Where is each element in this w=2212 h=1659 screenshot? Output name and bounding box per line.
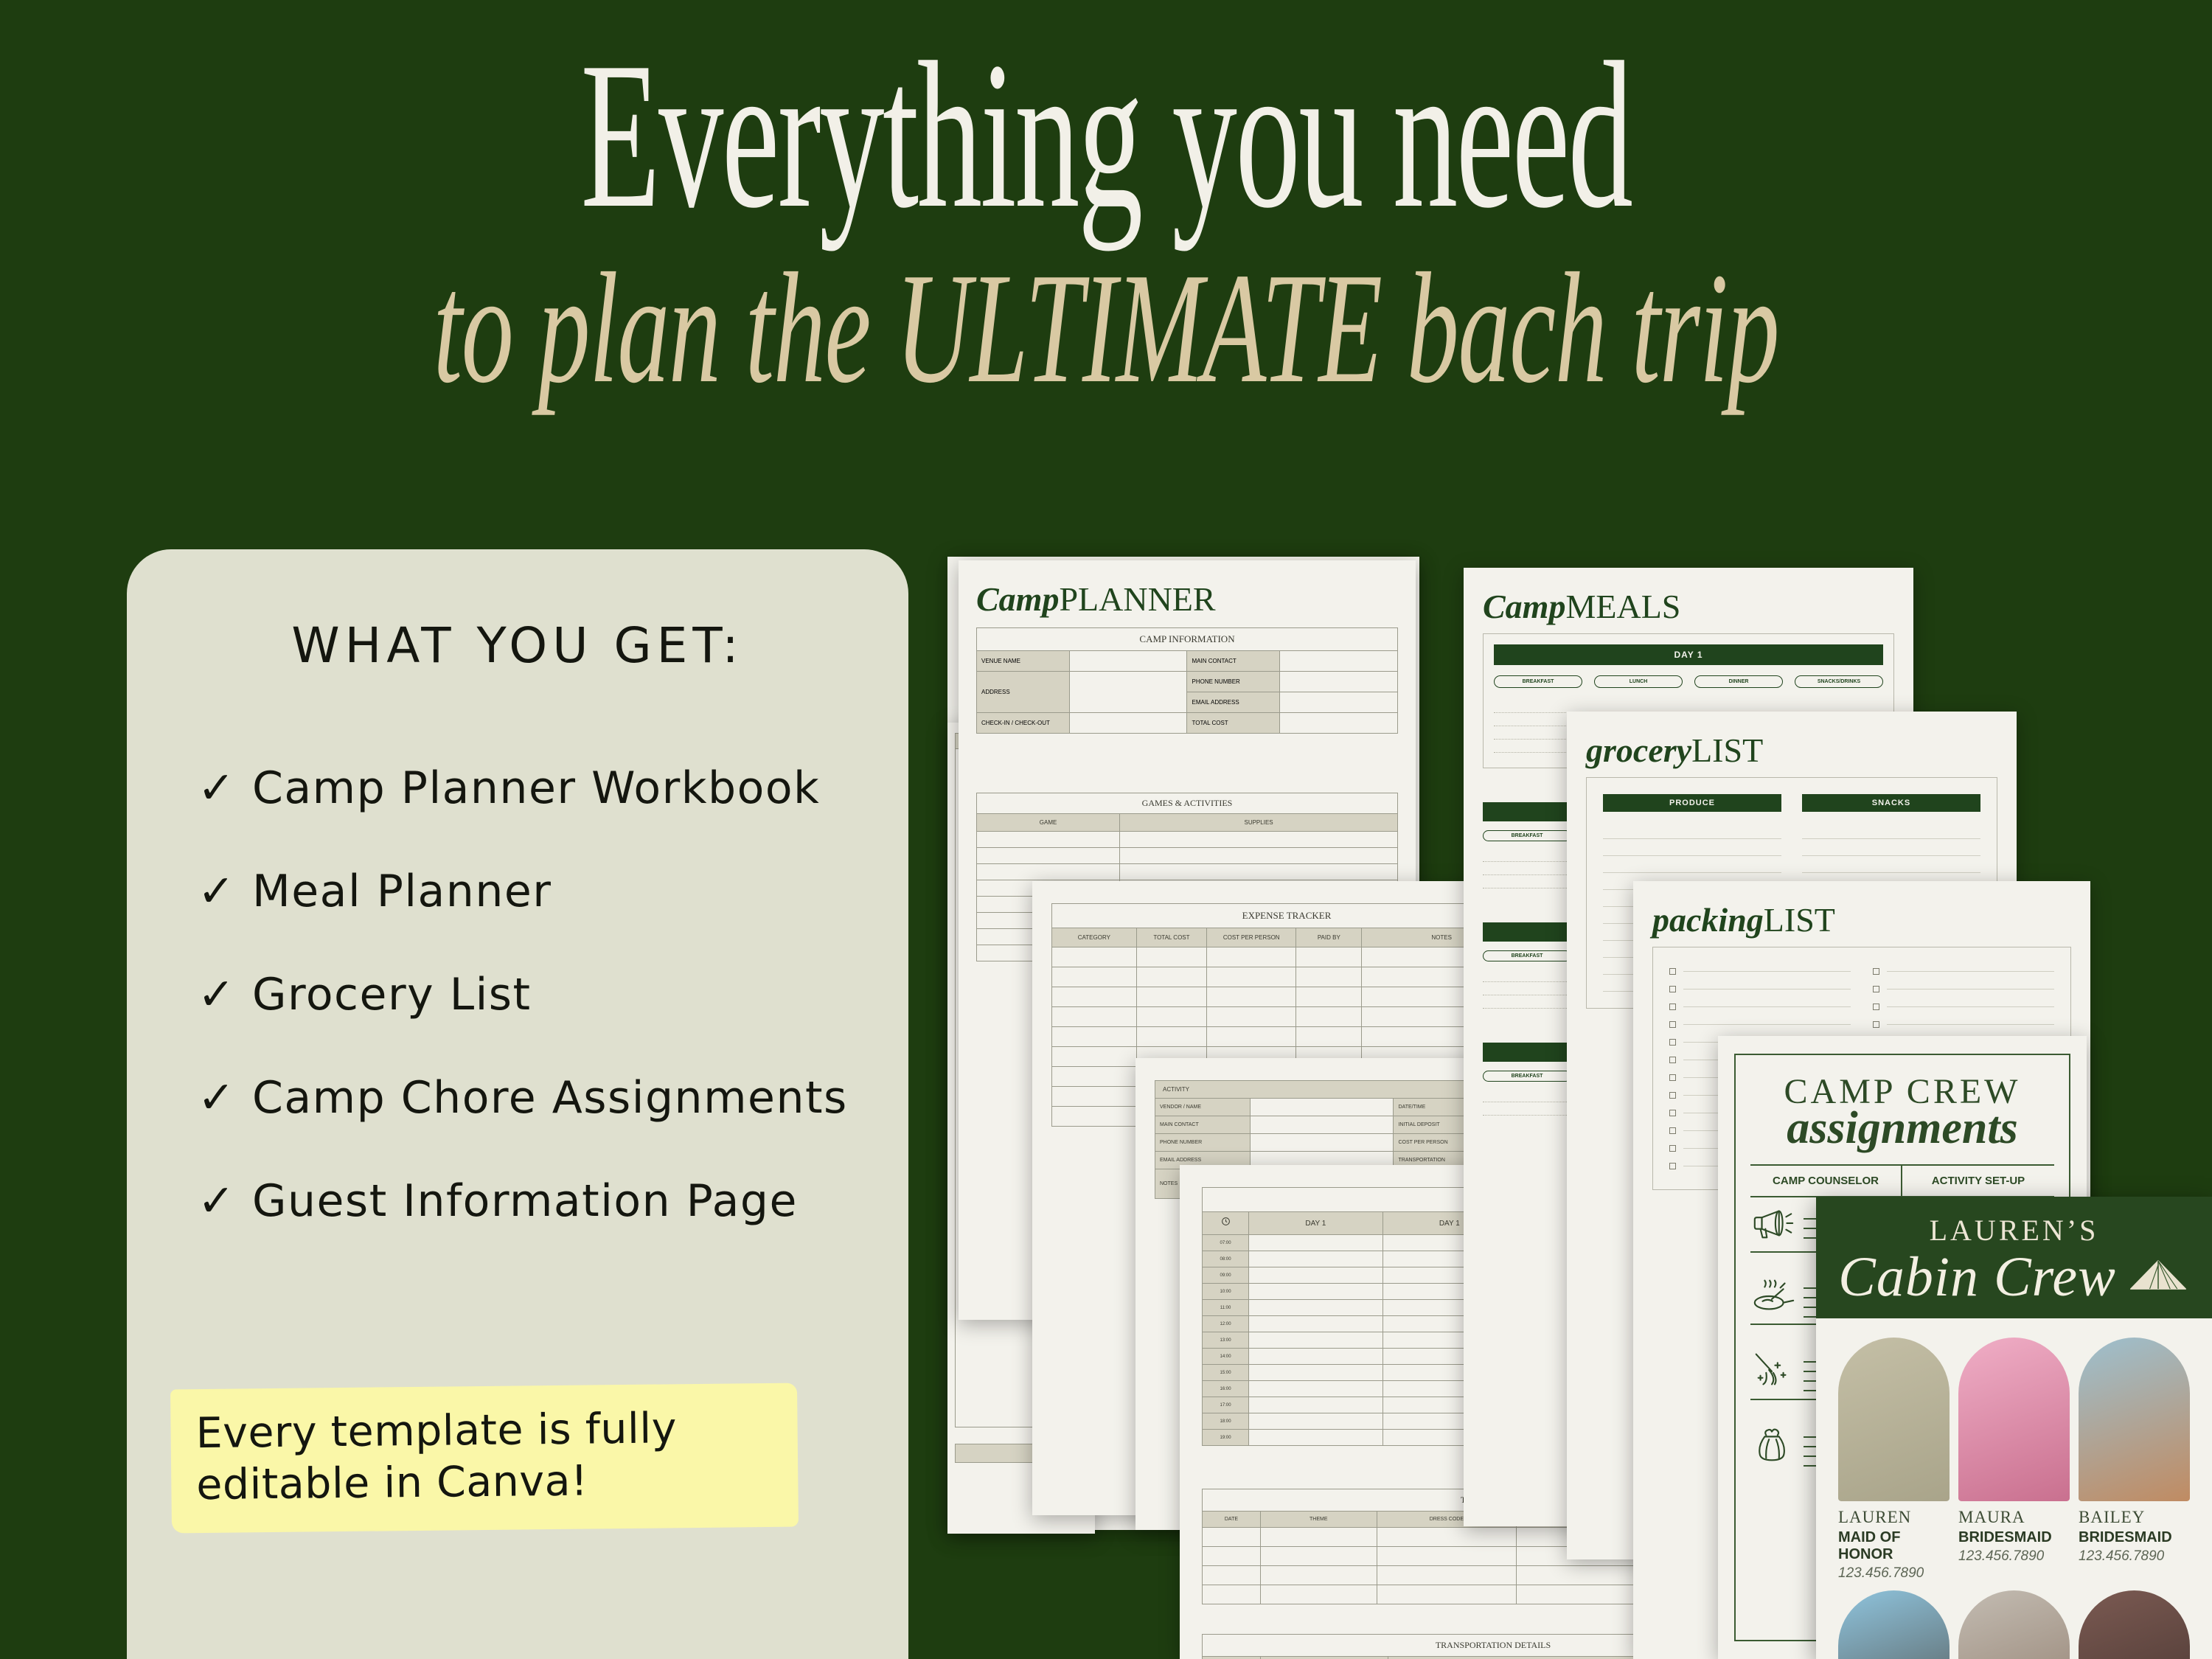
crew-member: MAURA BRIDESMAID 123.456.7890 (1958, 1338, 2070, 1582)
table-cell[interactable] (1207, 967, 1296, 987)
column-header: SUPPLIES (1120, 814, 1398, 832)
subheadline-pre: to plan the (434, 240, 896, 416)
mop-icon (1750, 1351, 1796, 1393)
table-cell[interactable] (1136, 987, 1207, 1007)
meals-day-label: DAY 1 (1494, 644, 1883, 665)
assignments-subtitle: assignments (1750, 1105, 2054, 1151)
subheadline-emphasis: ULTIMATE (895, 240, 1381, 416)
write-line[interactable] (1683, 971, 1851, 972)
write-line[interactable] (1802, 856, 1980, 873)
table-cell[interactable] (1207, 1027, 1296, 1047)
meal-pill[interactable]: BREAKFAST (1483, 950, 1571, 961)
write-line[interactable] (1802, 839, 1980, 856)
column-header (1260, 1657, 1388, 1659)
meals-day-bar (1483, 802, 1571, 821)
camp-meals-title-script: Camp (1483, 588, 1565, 625)
field-label: CHECK-IN / CHECK-OUT (977, 713, 1070, 734)
crew-member-role: BRIDESMAID (1958, 1529, 2070, 1546)
crew-member-phone: 123.456.7890 (1838, 1565, 1950, 1582)
write-line[interactable] (1603, 839, 1781, 856)
avatar (1838, 1338, 1950, 1501)
table-cell[interactable] (1203, 1585, 1261, 1604)
table-cell[interactable] (1249, 1332, 1382, 1349)
field-label: MAIN CONTACT (1187, 651, 1280, 672)
activity-label: ACTIVITY (1163, 1086, 1189, 1093)
table-cell[interactable] (1249, 1235, 1382, 1251)
table-cell[interactable] (1296, 987, 1362, 1007)
camp-planner-title: CampPLANNER (976, 580, 1398, 619)
meal-pill[interactable]: BREAKFAST (1483, 1071, 1571, 1082)
table-cell[interactable] (1052, 1067, 1137, 1087)
meals-day-bar (1483, 1043, 1571, 1062)
time-label: 10:00 (1203, 1284, 1249, 1300)
table-cell[interactable] (1296, 1027, 1362, 1047)
cabin-crew-card: LAUREN’S Cabin Crew LAUREN MAID OF HONOR… (1816, 1197, 2212, 1659)
table-cell[interactable] (1207, 947, 1296, 967)
table-cell[interactable] (1203, 1547, 1261, 1566)
meal-pill-row: BREAKFAST LUNCH DINNER SNACKS/DRINKS (1494, 675, 1883, 688)
time-label: 18:00 (1203, 1413, 1249, 1430)
cabin-crew-members-grid: LAUREN MAID OF HONOR 123.456.7890 MAURA … (1816, 1318, 2212, 1659)
table-cell[interactable] (1249, 1397, 1382, 1413)
check-icon: ✓ (198, 973, 252, 1017)
table-cell[interactable] (1377, 1547, 1516, 1566)
features-list: ✓ Camp Planner Workbook ✓ Meal Planner ✓… (168, 766, 867, 1223)
checkbox-icon[interactable] (1669, 1004, 1676, 1010)
checkbox-icon[interactable] (1669, 1163, 1676, 1169)
list-item: ✓ Camp Planner Workbook (168, 766, 867, 810)
column-header: DAY 1 (1249, 1212, 1382, 1235)
cabin-crew-owner: LAUREN’S (1816, 1213, 2212, 1248)
check-icon: ✓ (198, 1076, 252, 1120)
check-icon: ✓ (198, 766, 252, 810)
avatar (2079, 1338, 2190, 1501)
table-cell[interactable] (1052, 967, 1137, 987)
avatar (1838, 1590, 1950, 1659)
table-cell[interactable] (1377, 1528, 1516, 1547)
field-input[interactable] (1280, 713, 1398, 734)
table-cell[interactable] (1249, 1430, 1382, 1446)
time-label: 11:00 (1203, 1300, 1249, 1316)
checkbox-icon[interactable] (1873, 1021, 1879, 1028)
field-label: PHONE NUMBER (1155, 1134, 1251, 1152)
camp-information-table: CAMP INFORMATION VENUE NAME MAIN CONTACT… (976, 627, 1398, 734)
write-line[interactable] (1683, 1024, 1851, 1025)
camp-meals-title: CampMEALS (1483, 587, 1894, 626)
crew-member: LAUREN MAID OF HONOR 123.456.7890 (1838, 1338, 1950, 1582)
list-item-label: Grocery List (252, 973, 532, 1017)
packing-list-title: packingLIST (1652, 900, 2071, 939)
field-input[interactable] (1251, 1116, 1394, 1134)
checkbox-icon[interactable] (1669, 1021, 1676, 1028)
table-cell[interactable] (1296, 967, 1362, 987)
table-cell[interactable] (977, 848, 1120, 864)
list-item: ✓ Camp Chore Assignments (168, 1076, 867, 1120)
table-cell[interactable] (1249, 1349, 1382, 1365)
trash-bag-icon (1750, 1426, 1796, 1468)
table-cell[interactable] (1249, 1284, 1382, 1300)
avatar (1958, 1338, 2070, 1501)
table-cell[interactable] (1120, 864, 1398, 880)
column-header: DATE (1203, 1512, 1261, 1528)
list-item: ✓ Guest Information Page (168, 1179, 867, 1223)
field-label: ADDRESS (977, 672, 1070, 713)
column-header: CAMP COUNSELOR (1750, 1166, 1902, 1196)
time-label: 14:00 (1203, 1349, 1249, 1365)
field-label: EMAIL ADDRESS (1187, 692, 1280, 713)
time-label: 15:00 (1203, 1365, 1249, 1381)
checkbox-icon[interactable] (1873, 1004, 1879, 1010)
table-cell[interactable] (1249, 1316, 1382, 1332)
table-cell[interactable] (1136, 947, 1207, 967)
field-label: VENUE NAME (977, 651, 1070, 672)
meal-pill[interactable]: BREAKFAST (1494, 675, 1582, 688)
time-label: 19:00 (1203, 1430, 1249, 1446)
grocery-list-title-script: grocery (1586, 731, 1691, 769)
table-cell[interactable] (1052, 1047, 1137, 1067)
write-line[interactable] (1683, 989, 1851, 990)
field-input[interactable] (1069, 672, 1187, 713)
field-label: MAIN CONTACT (1155, 1116, 1251, 1134)
table-cell[interactable] (977, 864, 1120, 880)
field-label: PHONE NUMBER (1187, 672, 1280, 692)
write-line[interactable] (1802, 822, 1980, 839)
table-cell[interactable] (1249, 1251, 1382, 1267)
category-header: SNACKS (1802, 794, 1980, 812)
meals-day-bar (1483, 922, 1571, 942)
crew-member-role: MAID OF HONOR (1838, 1529, 1950, 1563)
write-line[interactable] (1887, 1006, 2054, 1007)
games-activities-caption: GAMES & ACTIVITIES (977, 793, 1398, 814)
grocery-list-title: groceryLIST (1586, 731, 1997, 770)
hero-subheadline: to plan the ULTIMATE bach trip (376, 248, 1836, 407)
table-cell[interactable] (1249, 1365, 1382, 1381)
camp-planner-title-roman: PLANNER (1059, 580, 1215, 618)
camp-meals-title-roman: MEALS (1565, 588, 1680, 625)
write-line[interactable] (1683, 1006, 1851, 1007)
column-header: ACTIVITY SET-UP (1902, 1166, 2054, 1196)
table-cell[interactable] (1052, 1107, 1137, 1127)
table-cell[interactable] (1260, 1585, 1377, 1604)
table-cell[interactable] (1249, 1381, 1382, 1397)
crew-member-phone: 123.456.7890 (2079, 1548, 2190, 1565)
canva-editable-note: Every template is fully editable in Canv… (170, 1383, 799, 1534)
checkbox-icon[interactable] (1669, 1145, 1676, 1152)
field-input[interactable] (1280, 651, 1398, 672)
table-cell[interactable] (1249, 1300, 1382, 1316)
subheadline-post: bach trip (1382, 240, 1779, 416)
table-cell[interactable] (1136, 967, 1207, 987)
grocery-list-title-roman: LIST (1691, 731, 1763, 769)
checkbox-icon[interactable] (1669, 1127, 1676, 1134)
field-label: TOTAL COST (1187, 713, 1280, 734)
check-icon: ✓ (198, 869, 252, 914)
table-cell[interactable] (1120, 832, 1398, 848)
meal-pill[interactable]: SNACKS/DRINKS (1795, 675, 1883, 688)
table-cell[interactable] (1052, 1007, 1137, 1027)
table-cell[interactable] (1377, 1566, 1516, 1585)
avatar (2079, 1590, 2190, 1659)
table-cell[interactable] (1203, 1528, 1261, 1547)
meal-pill[interactable]: BREAKFAST (1483, 830, 1571, 841)
list-item-label: Guest Information Page (252, 1179, 798, 1223)
clock-icon (1203, 1212, 1249, 1235)
avatar (1958, 1590, 2070, 1659)
field-input[interactable] (1069, 651, 1187, 672)
table-cell[interactable] (1207, 987, 1296, 1007)
column-header: TOTAL COST (1136, 928, 1207, 947)
write-line[interactable] (1483, 875, 1571, 888)
crew-member: PAULINA BRIDESMAID 123.456.7890 (1958, 1590, 2070, 1659)
table-cell[interactable] (1203, 1566, 1261, 1585)
table-cell[interactable] (1260, 1566, 1377, 1585)
write-line[interactable] (1603, 856, 1781, 873)
checkbox-icon[interactable] (1669, 968, 1676, 975)
write-line[interactable] (1483, 849, 1571, 862)
note-line-1: Every template is fully (195, 1402, 773, 1460)
packing-list-title-roman: LIST (1764, 901, 1835, 939)
table-cell[interactable] (1377, 1585, 1516, 1604)
meals-day-strip: BREAKFAST (1483, 1043, 1571, 1116)
table-cell[interactable] (1052, 987, 1137, 1007)
list-item-label: Meal Planner (252, 869, 552, 914)
crew-member-name: MAURA (1958, 1508, 2070, 1527)
list-item: ✓ Meal Planner (168, 869, 867, 914)
checkbox-icon[interactable] (1669, 1057, 1676, 1063)
time-label: 13:00 (1203, 1332, 1249, 1349)
time-label: 07:00 (1203, 1235, 1249, 1251)
table-cell[interactable] (1052, 1087, 1137, 1107)
megaphone-icon (1750, 1205, 1796, 1244)
category-header: PRODUCE (1603, 794, 1781, 812)
crew-member: BAILEY BRIDESMAID 123.456.7890 (2079, 1338, 2190, 1582)
table-cell[interactable] (1296, 1007, 1362, 1027)
time-label: 09:00 (1203, 1267, 1249, 1284)
table-cell[interactable] (1120, 848, 1398, 864)
cabin-crew-header: LAUREN’S Cabin Crew (1816, 1197, 2212, 1318)
field-input[interactable] (1251, 1134, 1394, 1152)
field-input[interactable] (1280, 692, 1398, 713)
crew-member-phone: 123.456.7890 (1958, 1548, 2070, 1565)
column-header: CATEGORY (1052, 928, 1137, 947)
table-cell[interactable] (1249, 1413, 1382, 1430)
column-header: PAID BY (1296, 928, 1362, 947)
table-cell[interactable] (1136, 1027, 1207, 1047)
write-line[interactable] (1483, 1089, 1571, 1102)
meals-day-strip: BREAKFAST (1483, 802, 1571, 888)
check-icon: ✓ (198, 1179, 252, 1223)
panel-title: WHAT YOU GET: (168, 617, 867, 674)
write-line[interactable] (1483, 969, 1571, 982)
list-item: ✓ Grocery List (168, 973, 867, 1017)
table-cell[interactable] (977, 832, 1120, 848)
write-line[interactable] (1483, 995, 1571, 1009)
table-cell[interactable] (1052, 947, 1137, 967)
time-label: 12:00 (1203, 1316, 1249, 1332)
write-line[interactable] (1887, 1024, 2054, 1025)
hero-heading-block: Everything you need to plan the ULTIMATE… (0, 0, 2212, 407)
frying-pan-icon (1750, 1279, 1796, 1318)
write-line[interactable] (1887, 989, 2054, 990)
crew-member-name: LAUREN (1838, 1508, 1950, 1527)
cabin-crew-script: Cabin Crew (1838, 1249, 2116, 1305)
expense-tracker-caption: EXPENSE TRACKER (1052, 904, 1522, 928)
column-header (1203, 1657, 1261, 1659)
field-input[interactable] (1251, 1099, 1394, 1116)
table-cell[interactable] (1260, 1528, 1377, 1547)
assignments-col-headers: CAMP COUNSELOR ACTIVITY SET-UP (1750, 1164, 2054, 1196)
checkbox-icon[interactable] (1873, 968, 1879, 975)
crew-member: TRINITY BRIDESMAID 123.456.7890 (2079, 1590, 2190, 1659)
meal-pill[interactable]: LUNCH (1594, 675, 1683, 688)
checkbox-icon[interactable] (1669, 1074, 1676, 1081)
camp-information-caption: CAMP INFORMATION (977, 628, 1398, 651)
column-header: THEME (1260, 1512, 1377, 1528)
checkbox-icon[interactable] (1669, 1039, 1676, 1046)
write-line[interactable] (1483, 982, 1571, 995)
table-cell[interactable] (1296, 947, 1362, 967)
time-label: 17:00 (1203, 1397, 1249, 1413)
note-line-2: editable in Canva! (196, 1453, 773, 1511)
column-header: COST PER PERSON (1207, 928, 1296, 947)
time-label: 08:00 (1203, 1251, 1249, 1267)
tent-icon (2126, 1258, 2190, 1295)
camp-planner-title-script: Camp (976, 580, 1059, 618)
write-line[interactable] (1603, 822, 1781, 839)
write-line[interactable] (1483, 862, 1571, 875)
time-label: 16:00 (1203, 1381, 1249, 1397)
table-cell[interactable] (1052, 1027, 1137, 1047)
list-item-label: Camp Chore Assignments (252, 1076, 848, 1120)
checkbox-icon[interactable] (1669, 986, 1676, 992)
table-cell[interactable] (1207, 1007, 1296, 1027)
table-cell[interactable] (1249, 1267, 1382, 1284)
crew-member: JAMIE BRIDESMAID 123.456.7890 (1838, 1590, 1950, 1659)
field-input[interactable] (1280, 672, 1398, 692)
table-cell[interactable] (1136, 1007, 1207, 1027)
field-label: VENDOR / NAME (1155, 1099, 1251, 1116)
meals-day-strip: BREAKFAST (1483, 922, 1571, 1009)
checkbox-icon[interactable] (1669, 1110, 1676, 1116)
crew-member-name: BAILEY (2079, 1508, 2190, 1527)
column-header: GAME (977, 814, 1120, 832)
write-line[interactable] (1483, 1102, 1571, 1116)
write-line[interactable] (1887, 971, 2054, 972)
table-cell[interactable] (1260, 1547, 1377, 1566)
crew-member-role: BRIDESMAID (2079, 1529, 2190, 1546)
meal-pill[interactable]: DINNER (1694, 675, 1783, 688)
field-input[interactable] (1069, 713, 1187, 734)
hero-headline: Everything you need (420, 35, 1792, 235)
checkbox-icon[interactable] (1669, 1092, 1676, 1099)
list-item-label: Camp Planner Workbook (252, 766, 820, 810)
checkbox-icon[interactable] (1873, 986, 1879, 992)
packing-list-title-script: packing (1652, 901, 1764, 939)
